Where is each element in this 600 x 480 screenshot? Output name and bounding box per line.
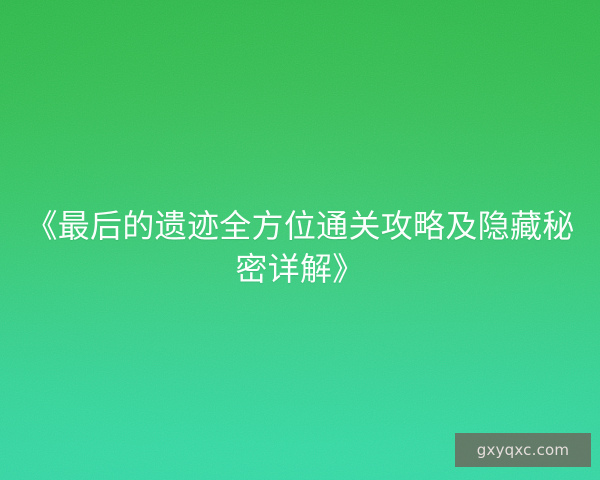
banner-image: 《最后的遗迹全方位通关攻略及隐藏秘密详解》 gxyqxc.com [0, 0, 600, 480]
page-title: 《最后的遗迹全方位通关攻略及隐藏秘密详解》 [0, 205, 600, 291]
watermark-text: gxyqxc.com [477, 443, 569, 458]
watermark-badge: gxyqxc.com [455, 433, 591, 467]
